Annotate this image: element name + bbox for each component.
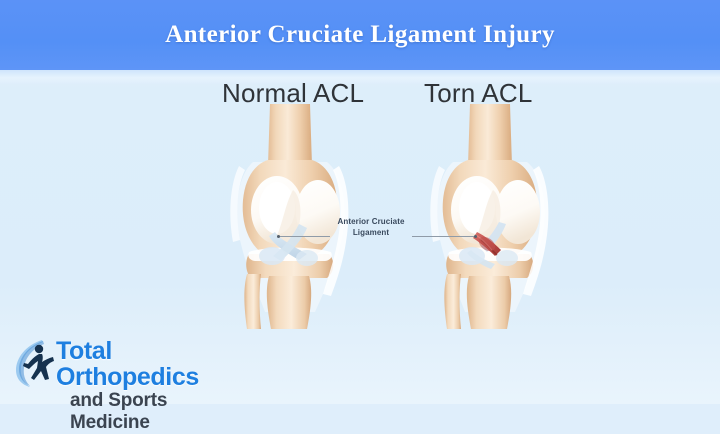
- athlete-figure-icon: [12, 336, 60, 388]
- annotation-label: Anterior Cruciate Ligament: [331, 216, 411, 238]
- leader-line-left: [278, 236, 330, 237]
- leader-line-right: [412, 236, 474, 237]
- annotation-line-1: Anterior Cruciate: [331, 216, 411, 227]
- logo-line-1: Total Orthopedics: [56, 338, 242, 390]
- knee-illustration-torn: [415, 104, 565, 329]
- annotation-line-2: Ligament: [331, 227, 411, 238]
- logo-wordmark: Total Orthopedics and Sports Medicine: [56, 338, 242, 434]
- brand-logo[interactable]: Total Orthopedics and Sports Medicine: [12, 334, 242, 392]
- slide-canvas: Anterior Cruciate Ligament Injury Normal…: [0, 0, 720, 404]
- leader-dot-left: [277, 235, 280, 238]
- logo-line-2: and Sports Medicine: [70, 390, 242, 434]
- page-title: Anterior Cruciate Ligament Injury: [165, 21, 555, 49]
- leader-dot-right: [474, 235, 477, 238]
- title-banner: Anterior Cruciate Ligament Injury: [0, 0, 720, 70]
